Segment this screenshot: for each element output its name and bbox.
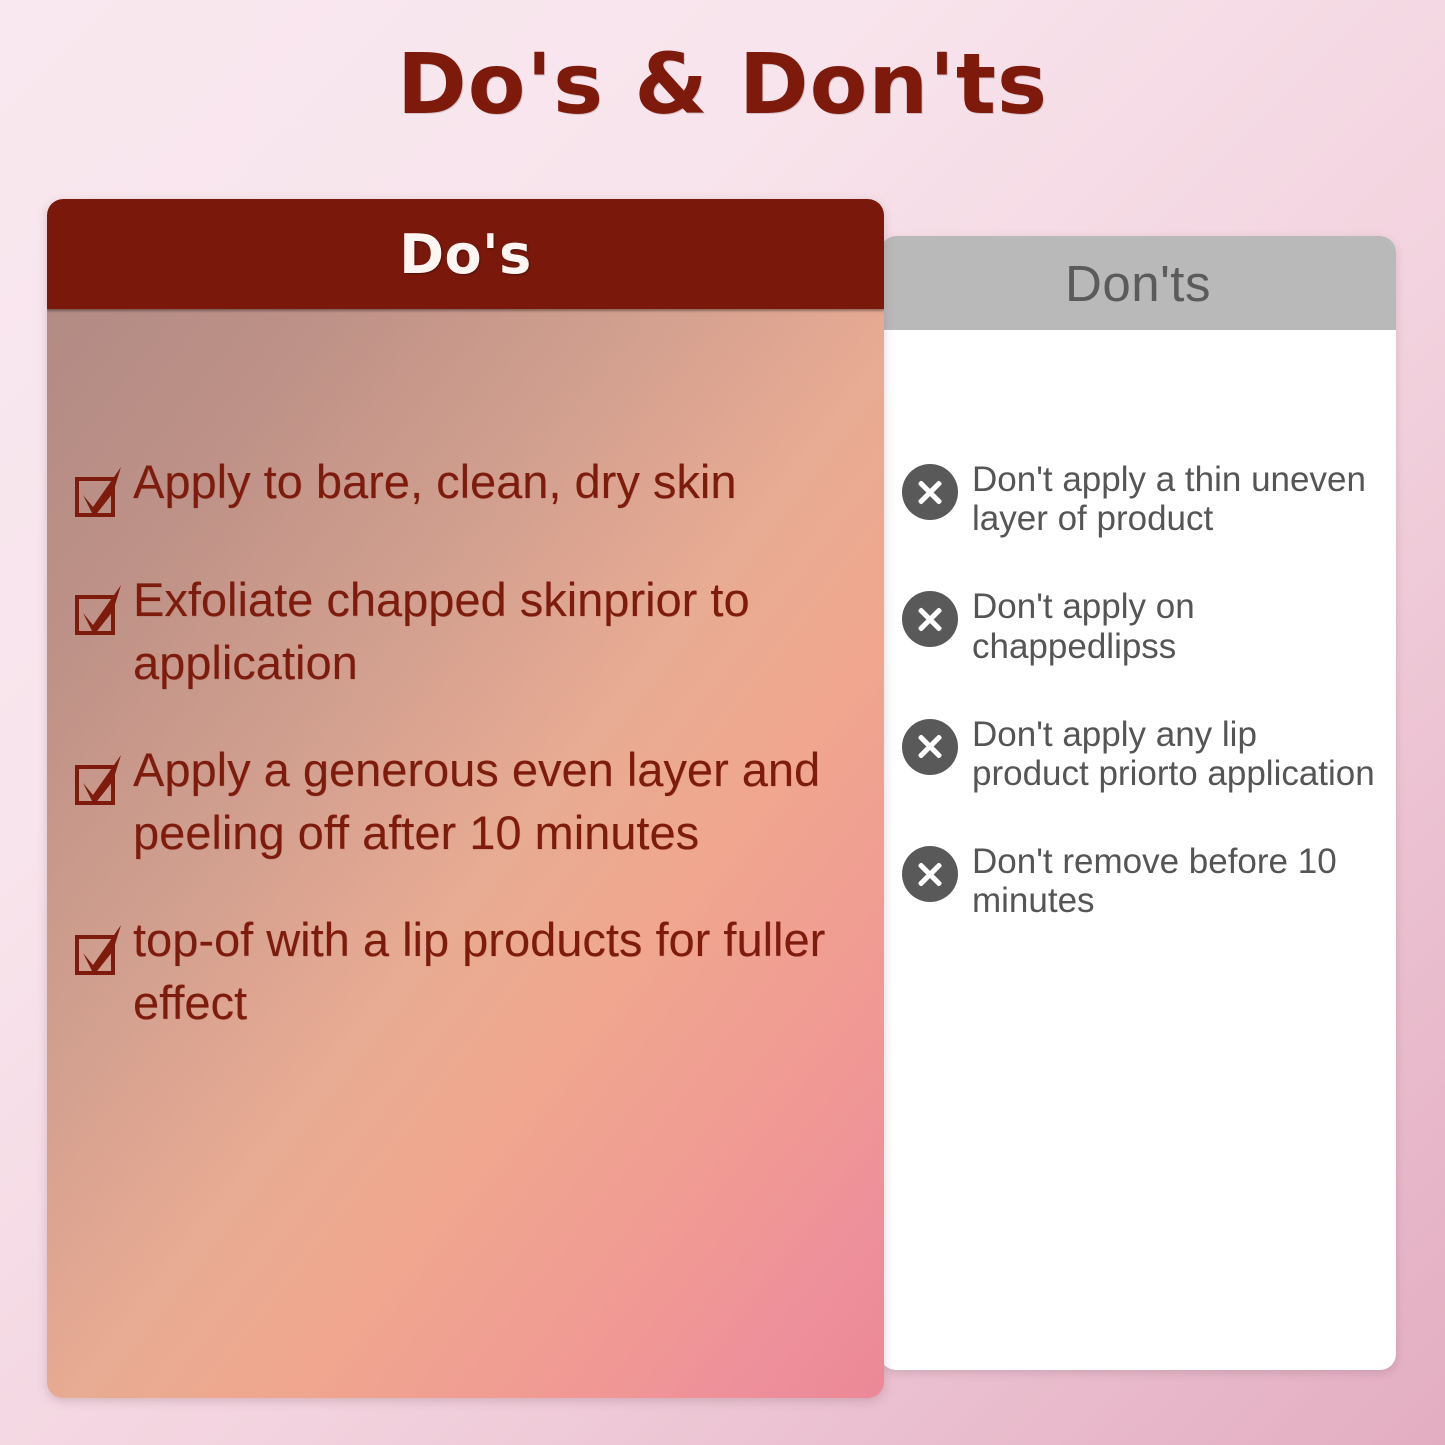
dos-header: Do's	[47, 199, 884, 309]
donts-header: Don'ts	[880, 236, 1396, 330]
list-item: Apply a generous even layer and peeling …	[73, 739, 858, 865]
page-title: Do's & Don'ts	[0, 38, 1445, 130]
check-box-icon	[73, 925, 127, 983]
list-item: Apply to bare, clean, dry skin	[73, 451, 858, 525]
check-box-icon	[73, 467, 127, 525]
circle-x-icon	[902, 846, 958, 902]
list-item-label: top-of with a lip products for fuller ef…	[133, 909, 858, 1035]
donts-panel: Don'ts Don't apply a thin uneven layer o…	[880, 236, 1396, 1370]
list-item-label: Don't remove before 10 minutes	[972, 840, 1378, 920]
list-item-label: Apply a generous even layer and peeling …	[133, 739, 858, 865]
list-item-label: Don't apply on chappedlipss	[972, 585, 1378, 665]
dos-header-label: Do's	[399, 223, 532, 286]
donts-list: Don't apply a thin uneven layer of produ…	[880, 330, 1396, 921]
list-item: top-of with a lip products for fuller ef…	[73, 909, 858, 1035]
list-item-label: Don't apply a thin uneven layer of produ…	[972, 458, 1378, 538]
dos-panel: Do's Apply to bare, clean, dry skin	[47, 199, 884, 1398]
circle-x-icon	[902, 719, 958, 775]
check-box-icon	[73, 755, 127, 813]
circle-x-icon	[902, 591, 958, 647]
dos-body: Apply to bare, clean, dry skin Exfoliate…	[47, 309, 884, 1398]
list-item-label: Apply to bare, clean, dry skin	[133, 451, 736, 514]
check-box-icon	[73, 585, 127, 643]
list-item: Exfoliate chapped skinprior to applicati…	[73, 569, 858, 695]
dos-list: Apply to bare, clean, dry skin Exfoliate…	[73, 309, 858, 1035]
list-item-label: Exfoliate chapped skinprior to applicati…	[133, 569, 858, 695]
circle-x-icon	[902, 464, 958, 520]
list-item: Don't apply a thin uneven layer of produ…	[902, 458, 1378, 538]
donts-header-label: Don'ts	[1065, 254, 1211, 313]
list-item-label: Don't apply any lip product priorto appl…	[972, 713, 1378, 793]
list-item: Don't apply any lip product priorto appl…	[902, 713, 1378, 793]
list-item: Don't apply on chappedlipss	[902, 585, 1378, 665]
list-item: Don't remove before 10 minutes	[902, 840, 1378, 920]
